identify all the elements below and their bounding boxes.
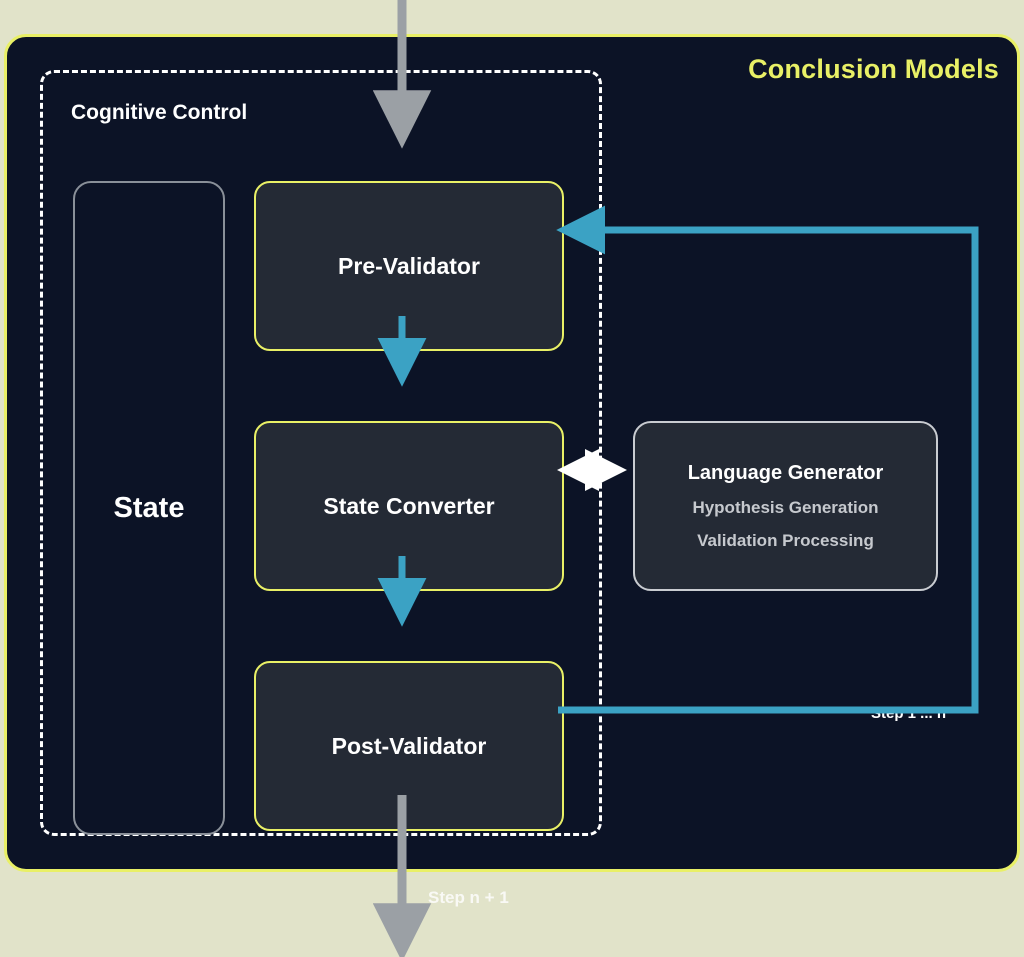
state-box[interactable]: State	[73, 181, 225, 835]
hypothesis-generation-label: Hypothesis Generation	[692, 498, 878, 518]
output-step-label: Step n + 1	[428, 888, 509, 908]
conclusion-models-panel: Conclusion Models Cognitive Control Stat…	[4, 34, 1020, 872]
language-generator-title: Language Generator	[688, 462, 884, 485]
pre-validator-label: Pre-Validator	[338, 253, 480, 280]
state-box-label: State	[114, 492, 185, 525]
pre-validator-box[interactable]: Pre-Validator	[254, 181, 564, 351]
diagram-root: Conclusion Models Cognitive Control Stat…	[0, 0, 1024, 957]
state-converter-box[interactable]: State Converter	[254, 421, 564, 591]
post-validator-box[interactable]: Post-Validator	[254, 661, 564, 831]
language-generator-box[interactable]: Language Generator Hypothesis Generation…	[633, 421, 938, 591]
cognitive-control-label: Cognitive Control	[71, 101, 247, 125]
page-title: Conclusion Models	[748, 54, 999, 85]
validation-processing-label: Validation Processing	[697, 531, 874, 551]
feedback-step-label: Step 1 ... n	[871, 705, 946, 722]
state-converter-label: State Converter	[323, 493, 494, 520]
post-validator-label: Post-Validator	[332, 733, 487, 760]
